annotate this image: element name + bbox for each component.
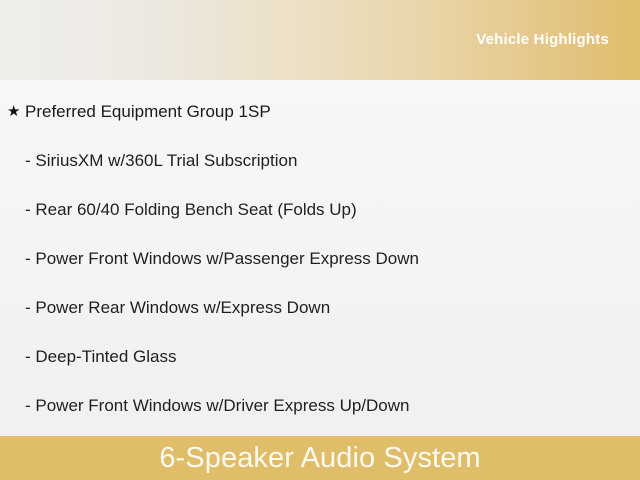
- list-item-label: - Power Front Windows w/Passenger Expres…: [25, 249, 419, 269]
- list-item: ★ Preferred Equipment Group 1SP: [0, 87, 640, 136]
- list-item: - Power Front Windows w/Passenger Expres…: [0, 234, 640, 283]
- list-item-label: - Power Rear Windows w/Express Down: [25, 298, 330, 318]
- header-band: Vehicle Highlights: [0, 0, 640, 80]
- list-item: - Deep-Tinted Glass: [0, 332, 640, 381]
- star-bullet-icon: ★: [7, 103, 25, 121]
- list-item-label: - Rear 60/40 Folding Bench Seat (Folds U…: [25, 200, 357, 220]
- list-item: - Power Rear Windows w/Express Down: [0, 283, 640, 332]
- list-item-label: - Deep-Tinted Glass: [25, 347, 176, 367]
- footer-headline: 6-Speaker Audio System: [159, 441, 480, 475]
- vehicle-highlights-list: ★ Preferred Equipment Group 1SP - Sirius…: [0, 80, 640, 436]
- list-item-label: - SiriusXM w/360L Trial Subscription: [25, 151, 297, 171]
- list-item-label: Preferred Equipment Group 1SP: [25, 102, 271, 122]
- vehicle-highlights-slide: Vehicle Highlights ★ Preferred Equipment…: [0, 0, 640, 480]
- list-item: - Rear 60/40 Folding Bench Seat (Folds U…: [0, 185, 640, 234]
- page-title: Vehicle Highlights: [476, 31, 609, 49]
- list-item-label: - Power Front Windows w/Driver Express U…: [25, 396, 409, 416]
- list-item: - Power Front Windows w/Driver Express U…: [0, 381, 640, 430]
- footer-band: 6-Speaker Audio System: [0, 436, 640, 480]
- list-item: - SiriusXM w/360L Trial Subscription: [0, 136, 640, 185]
